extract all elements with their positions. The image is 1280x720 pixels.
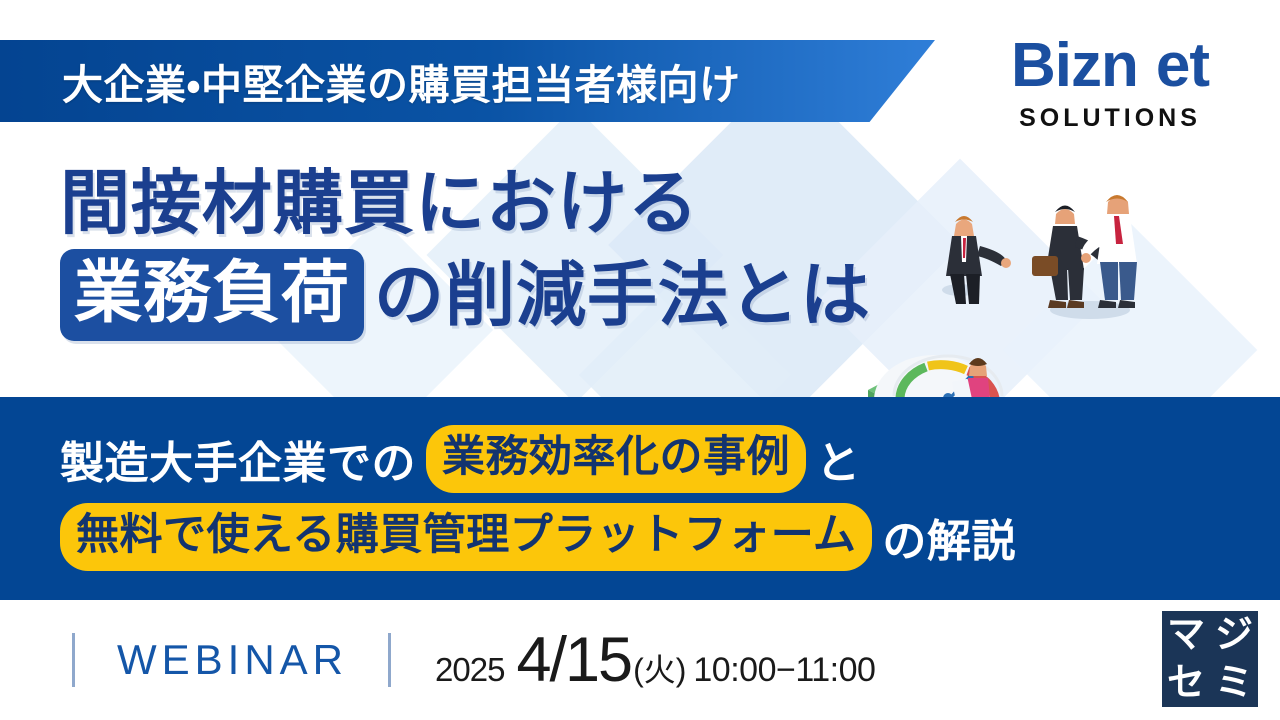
title-line-1: 間接材購買における [60, 168, 1020, 239]
title-line-2-rest: の削減手法とは [374, 260, 871, 330]
logo-wordmark-part2: e [1156, 31, 1189, 100]
majisemi-logo: マ ジ セ ミ [1162, 611, 1258, 707]
subtitle-line-1-post: と [816, 427, 861, 491]
title-line-2: 業務負荷 の削減手法とは [60, 249, 1020, 341]
title-highlight-badge: 業務負荷 [60, 249, 364, 341]
footer-bar: WEBINAR 2025 4/15 (火) 10:00−11:00 [0, 600, 1280, 720]
main-title: 間接材購買における 業務負荷 の削減手法とは [60, 168, 1020, 341]
webinar-label: WEBINAR [117, 636, 348, 684]
event-dayofweek: (火) [633, 645, 686, 691]
subtitle-badge-case-study: 業務効率化の事例 [426, 425, 806, 493]
subtitle-content: 製造大手企業での 業務効率化の事例 と 無料で使える購買管理プラットフォーム の… [60, 425, 1160, 581]
biznet-logo: Biznet SOLUTIONS [976, 30, 1244, 133]
event-year: 2025 [435, 651, 504, 689]
divider-right [388, 633, 391, 687]
webinar-banner: $ $ [0, 0, 1280, 720]
majisemi-char-4: ミ [1215, 664, 1253, 702]
logo-wordmark: Biznet [976, 30, 1244, 102]
subtitle-line-1-pre: 製造大手企業での [60, 427, 416, 491]
subtitle-line-2: 無料で使える購買管理プラットフォーム の解説 [60, 503, 1160, 571]
event-day: 4/15 [516, 624, 631, 696]
event-datetime: 2025 4/15 (火) 10:00−11:00 [435, 624, 875, 696]
ribbon-label: 大企業・中堅企業の購買担当者様向け [62, 51, 740, 111]
divider-left [72, 633, 75, 687]
majisemi-char-1: マ [1167, 616, 1205, 654]
person-handshake-icon [1032, 195, 1137, 319]
event-time: 10:00−11:00 [693, 651, 875, 690]
audience-ribbon: 大企業・中堅企業の購買担当者様向け [0, 40, 935, 122]
logo-wordmark-part3: t [1189, 31, 1209, 100]
logo-tagline: SOLUTIONS [976, 104, 1244, 133]
subtitle-badge-platform: 無料で使える購買管理プラットフォーム [60, 503, 872, 571]
majisemi-char-3: セ [1167, 664, 1205, 702]
majisemi-char-2: ジ [1215, 616, 1253, 654]
subtitle-line-1: 製造大手企業での 業務効率化の事例 と [60, 425, 1160, 493]
subtitle-line-2-post: の解説 [882, 505, 1016, 569]
logo-wordmark-part1: Bizn [1011, 31, 1138, 100]
